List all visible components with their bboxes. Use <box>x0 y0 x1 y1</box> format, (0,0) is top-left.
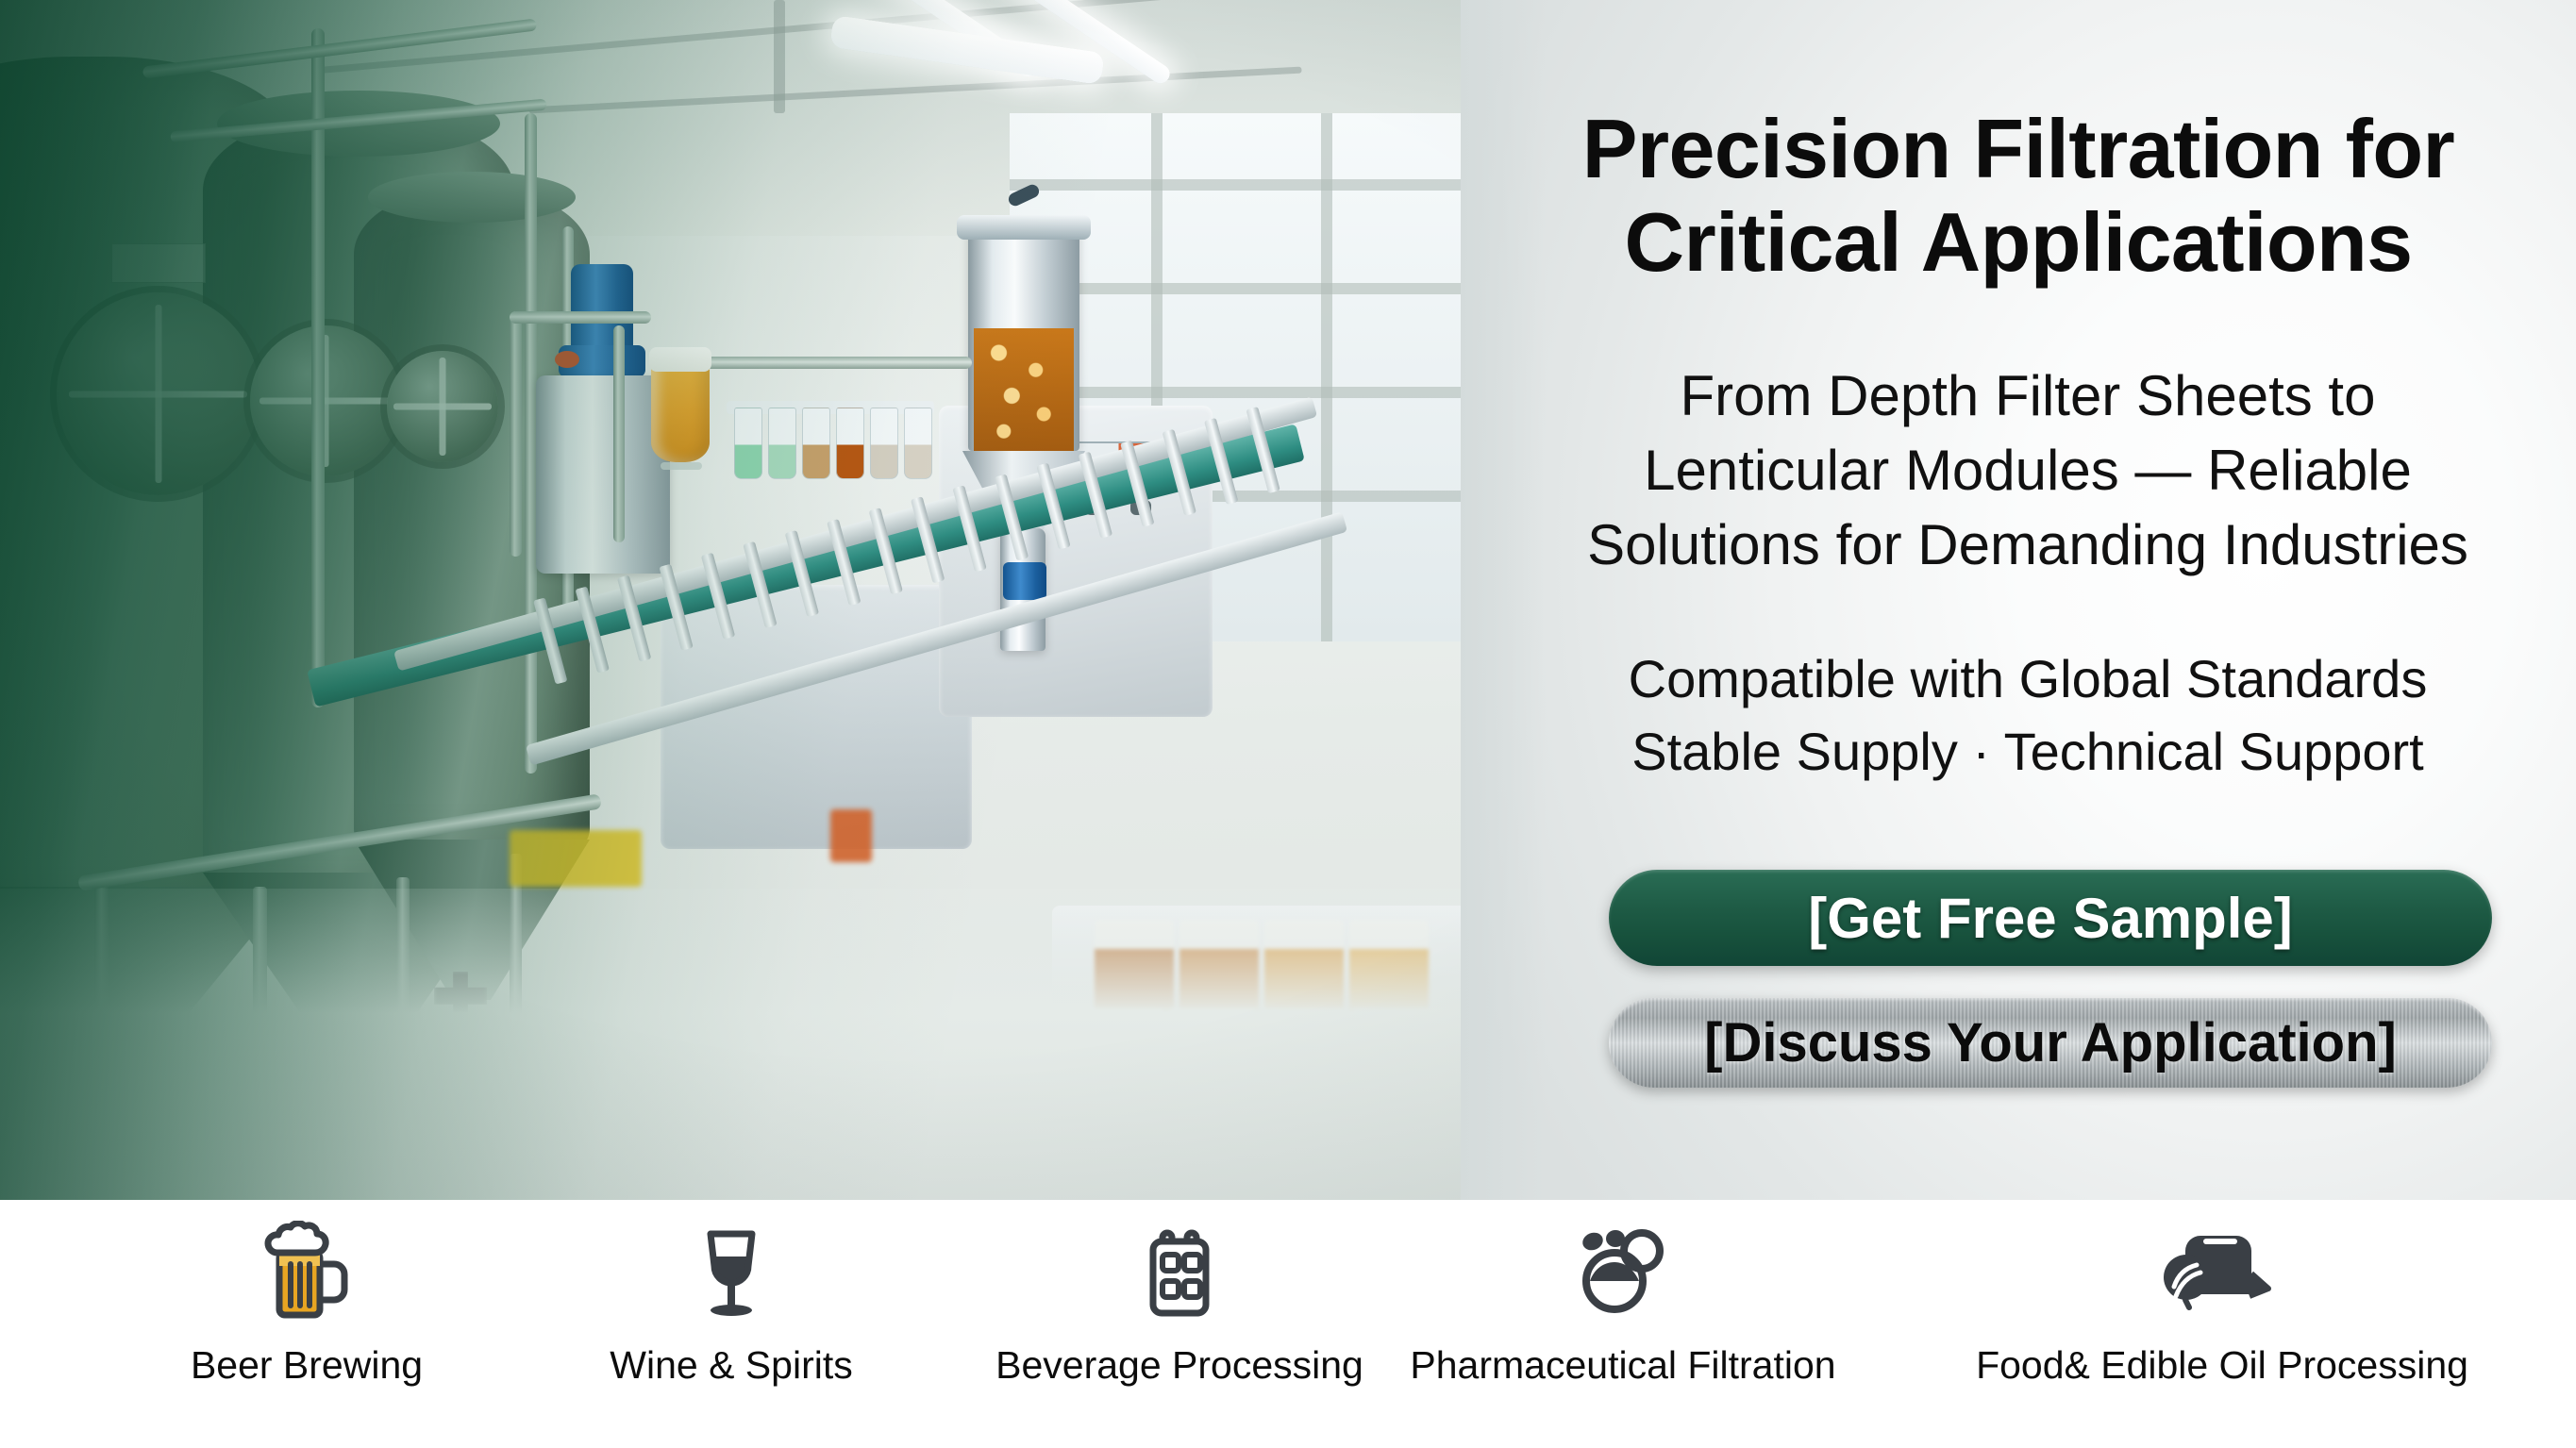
hero-support-text: Compatible with Global Standards Stable … <box>1544 643 2512 788</box>
industry-bar: Beer Brewing Wine & Spirits <box>0 1200 2576 1448</box>
subhead-line-3: Solutions for Demanding Industries <box>1544 508 2512 582</box>
hero-subheadline: From Depth Filter Sheets to Lenticular M… <box>1544 358 2512 583</box>
discuss-your-application-button[interactable]: [Discuss Your Application] <box>1609 998 2492 1088</box>
wine-glass-icon <box>686 1221 777 1323</box>
oil-bottle-icon <box>2161 1221 2283 1323</box>
industry-label: Beverage Processing <box>995 1343 1363 1388</box>
industry-item-wine-spirits[interactable]: Wine & Spirits <box>514 1200 948 1388</box>
photo-vignette <box>0 0 1461 1200</box>
industry-item-food-edible-oil-processing[interactable]: Food& Edible Oil Processing <box>2005 1200 2439 1388</box>
pharma-flask-icon <box>1570 1221 1676 1323</box>
industry-item-beverage-processing[interactable]: Beverage Processing <box>962 1200 1397 1388</box>
page-title: Precision Filtration for Critical Applic… <box>1461 102 2576 290</box>
subhead-line-1: From Depth Filter Sheets to <box>1544 358 2512 433</box>
beverage-crate-icon <box>1132 1221 1227 1323</box>
industry-label: Food& Edible Oil Processing <box>1976 1343 2468 1388</box>
industry-label: Pharmaceutical Filtration <box>1410 1343 1835 1388</box>
industry-label: Beer Brewing <box>191 1343 423 1388</box>
beer-mug-icon <box>255 1221 359 1323</box>
support-line-1: Compatible with Global Standards <box>1544 643 2512 716</box>
industry-label: Wine & Spirits <box>610 1343 852 1388</box>
get-free-sample-button[interactable]: [Get Free Sample] <box>1609 870 2492 966</box>
hero-photo <box>0 0 1461 1200</box>
support-line-2: Stable Supply · Technical Support <box>1544 716 2512 789</box>
headline-line-2: Critical Applications <box>1461 195 2576 289</box>
industry-item-beer-brewing[interactable]: Beer Brewing <box>90 1200 524 1388</box>
headline-line-1: Precision Filtration for <box>1461 102 2576 195</box>
promo-banner: Precision Filtration for Critical Applic… <box>0 0 2576 1448</box>
subhead-line-2: Lenticular Modules — Reliable <box>1544 433 2512 508</box>
industry-item-pharmaceutical-filtration[interactable]: Pharmaceutical Filtration <box>1406 1200 1840 1388</box>
